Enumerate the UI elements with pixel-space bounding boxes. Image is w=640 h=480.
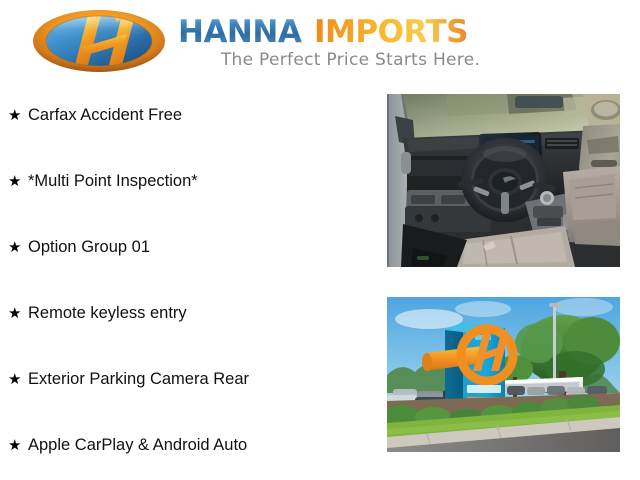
star-bullet-icon: ★ bbox=[8, 306, 28, 321]
brand-tagline: The Perfect Price Starts Here. bbox=[178, 50, 523, 70]
brand-header: HANNA IMPORTS The Perfect Price Starts H… bbox=[0, 0, 640, 88]
star-bullet-icon: ★ bbox=[8, 438, 28, 453]
star-bullet-icon: ★ bbox=[8, 174, 28, 189]
feature-label: Exterior Parking Camera Rear bbox=[28, 369, 249, 389]
brand-wordmark: HANNA IMPORTS bbox=[178, 14, 523, 50]
feature-label: Remote keyless entry bbox=[28, 303, 187, 323]
list-item: ★ Exterior Parking Camera Rear bbox=[8, 368, 249, 390]
list-item: ★ Carfax Accident Free bbox=[8, 104, 182, 126]
star-bullet-icon: ★ bbox=[8, 372, 28, 387]
list-item: ★ Apple CarPlay & Android Auto bbox=[8, 434, 247, 456]
hanna-oval-h-logo-icon bbox=[31, 9, 167, 73]
star-bullet-icon: ★ bbox=[8, 108, 28, 123]
list-item: ★ Remote keyless entry bbox=[8, 302, 187, 324]
feature-label: *Multi Point Inspection* bbox=[28, 171, 198, 191]
svg-text:IMPORTS: IMPORTS bbox=[314, 14, 468, 50]
vehicle-features-list: ★ Carfax Accident Free ★ *Multi Point In… bbox=[0, 94, 380, 480]
svg-text:HANNA: HANNA bbox=[178, 14, 302, 50]
list-item: ★ Option Group 01 bbox=[8, 236, 150, 258]
feature-label: Carfax Accident Free bbox=[28, 105, 182, 125]
dealership-sign-photo bbox=[387, 297, 620, 452]
star-bullet-icon: ★ bbox=[8, 240, 28, 255]
feature-label: Option Group 01 bbox=[28, 237, 150, 257]
list-item: ★ *Multi Point Inspection* bbox=[8, 170, 198, 192]
vehicle-interior-photo bbox=[387, 94, 620, 267]
feature-label: Apple CarPlay & Android Auto bbox=[28, 435, 247, 455]
